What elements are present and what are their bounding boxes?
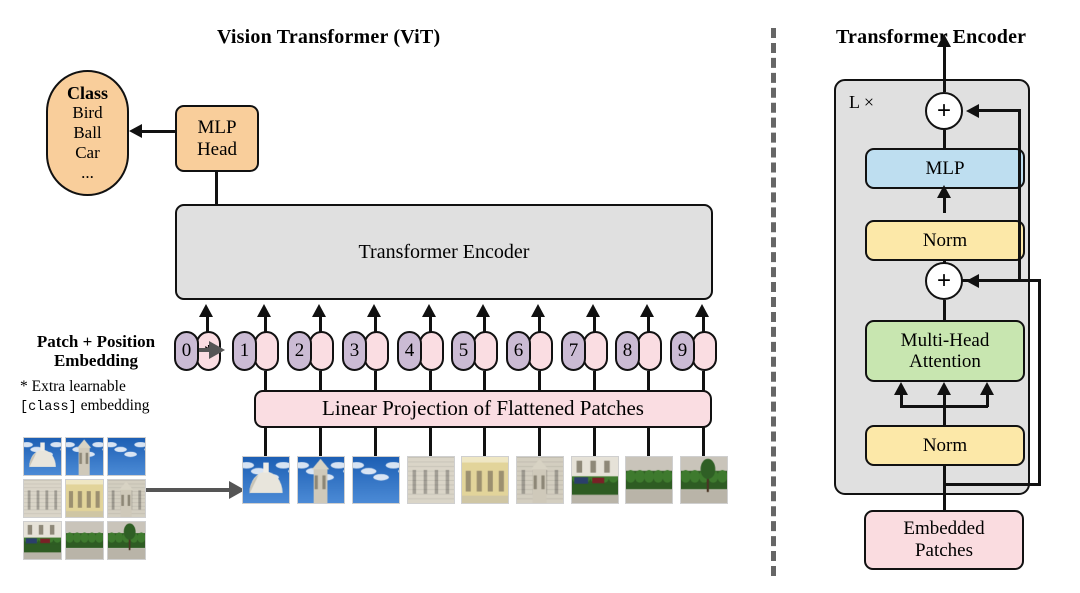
norm-top-label: Norm bbox=[923, 230, 967, 251]
patch-embedding-7 bbox=[583, 331, 608, 371]
token-7[interactable]: 7 bbox=[561, 331, 608, 371]
token-to-projection-line-5 bbox=[483, 371, 486, 392]
mlp-head-line1: MLP bbox=[197, 117, 236, 138]
skip-top-horizontal-top bbox=[978, 109, 1021, 112]
token-to-projection-line-7 bbox=[593, 371, 596, 392]
left-panel-title: Vision Transformer (ViT) bbox=[217, 26, 440, 49]
embedded-patches-box: Embedded Patches bbox=[864, 510, 1024, 570]
token-to-encoder-arrowhead-9 bbox=[695, 304, 709, 317]
mlp-to-class-arrowhead bbox=[129, 124, 142, 138]
projection-to-patch-line-4 bbox=[429, 426, 432, 456]
token-8[interactable]: 8 bbox=[615, 331, 662, 371]
skip-top-arrowhead bbox=[966, 104, 979, 118]
patch-embedding-2 bbox=[309, 331, 334, 371]
position-embedding-3: 3 bbox=[342, 331, 367, 371]
sequence-patch-5 bbox=[461, 456, 509, 504]
mlp-to-add-line bbox=[943, 130, 946, 149]
projection-to-patch-line-8 bbox=[647, 426, 650, 456]
norm-top-to-mlp-arrowhead bbox=[937, 185, 951, 198]
token-to-encoder-arrowhead-8 bbox=[640, 304, 654, 317]
position-embedding-0: 0 bbox=[174, 331, 199, 371]
token-to-projection-line-8 bbox=[647, 371, 650, 392]
class-ellipsis: ... bbox=[81, 163, 94, 183]
class-output-box: Class Bird Ball Car ... bbox=[46, 70, 129, 196]
encoder-output-arrowhead bbox=[937, 34, 951, 47]
token-to-projection-line-1 bbox=[264, 371, 267, 392]
source-patch-2-1 bbox=[65, 521, 104, 560]
projection-to-patch-line-3 bbox=[374, 426, 377, 456]
token-to-encoder-arrowhead-1 bbox=[257, 304, 271, 317]
skip-bottom-vertical bbox=[1038, 281, 1041, 486]
linear-projection-label: Linear Projection of Flattened Patches bbox=[322, 397, 644, 421]
grid-to-sequence-line bbox=[142, 488, 230, 492]
position-embedding-2: 2 bbox=[287, 331, 312, 371]
position-embedding-7: 7 bbox=[561, 331, 586, 371]
projection-to-patch-line-1 bbox=[264, 426, 267, 456]
plus-symbol-top: + bbox=[937, 97, 951, 125]
token-to-projection-line-6 bbox=[538, 371, 541, 392]
footnote-class-token: [class] bbox=[20, 400, 77, 415]
patch-embedding-9 bbox=[692, 331, 717, 371]
token-3[interactable]: 3 bbox=[342, 331, 389, 371]
projection-to-patch-line-7 bbox=[593, 426, 596, 456]
position-embedding-4: 4 bbox=[397, 331, 422, 371]
mlp-head-to-encoder-line bbox=[215, 172, 218, 206]
linear-projection-box: Linear Projection of Flattened Patches bbox=[254, 390, 712, 428]
token-to-projection-line-4 bbox=[429, 371, 432, 392]
token-2[interactable]: 2 bbox=[287, 331, 334, 371]
source-patch-2-2 bbox=[107, 521, 146, 560]
token-to-encoder-arrowhead-0 bbox=[199, 304, 213, 317]
token-9[interactable]: 9 bbox=[670, 331, 717, 371]
qkv-right-arrowhead bbox=[980, 382, 994, 395]
embedded-line2: Patches bbox=[915, 540, 973, 562]
footnote-line2: [class] embedding bbox=[20, 397, 190, 416]
source-patch-0-1 bbox=[65, 437, 104, 476]
position-embedding-1: 1 bbox=[232, 331, 257, 371]
token-to-encoder-arrowhead-4 bbox=[422, 304, 436, 317]
patch-embedding-3 bbox=[364, 331, 389, 371]
footnote-tail: embedding bbox=[77, 397, 150, 414]
attention-line1: Multi-Head bbox=[901, 330, 990, 351]
source-patch-0-0 bbox=[23, 437, 62, 476]
skip-bottom-arrowhead bbox=[966, 274, 979, 288]
projection-to-patch-line-6 bbox=[538, 426, 541, 456]
patch-position-line2: Embedding bbox=[12, 351, 180, 370]
norm-top-box: Norm bbox=[865, 220, 1025, 261]
class-item-0: Bird bbox=[72, 103, 102, 123]
token-6[interactable]: 6 bbox=[506, 331, 553, 371]
qkv-left-arrowhead bbox=[894, 382, 908, 395]
position-embedding-5: 5 bbox=[451, 331, 476, 371]
norm-bottom-label: Norm bbox=[923, 435, 967, 456]
token-to-encoder-arrowhead-5 bbox=[476, 304, 490, 317]
sequence-patch-1 bbox=[242, 456, 290, 504]
mlp-label: MLP bbox=[925, 158, 964, 179]
token-to-projection-line-2 bbox=[319, 371, 322, 392]
patch-embedding-1 bbox=[254, 331, 279, 371]
token-to-encoder-arrowhead-2 bbox=[312, 304, 326, 317]
sequence-patch-8 bbox=[625, 456, 673, 504]
token-to-encoder-arrowhead-6 bbox=[531, 304, 545, 317]
residual-add-top: + bbox=[925, 92, 963, 130]
mlp-to-class-line bbox=[140, 130, 176, 133]
token-to-encoder-arrowhead-7 bbox=[586, 304, 600, 317]
residual-add-bottom: + bbox=[925, 262, 963, 300]
right-panel-title: Transformer Encoder bbox=[836, 26, 1026, 49]
token-to-encoder-arrowhead-3 bbox=[367, 304, 381, 317]
skip-bottom-horizontal-top bbox=[978, 279, 1041, 282]
skip-top-vertical bbox=[1018, 111, 1021, 282]
sequence-patch-3 bbox=[352, 456, 400, 504]
footnote-line1: * Extra learnable bbox=[20, 378, 190, 397]
sequence-patch-7 bbox=[571, 456, 619, 504]
mlp-head-line2: Head bbox=[197, 139, 237, 160]
projection-to-patch-line-2 bbox=[319, 426, 322, 456]
mlp-box: MLP bbox=[865, 148, 1025, 189]
sequence-patch-6 bbox=[516, 456, 564, 504]
source-patch-1-0 bbox=[23, 479, 62, 518]
plus-symbol-bottom: + bbox=[937, 267, 951, 295]
sequence-patch-4 bbox=[407, 456, 455, 504]
patch-position-embedding-label: Patch + Position Embedding bbox=[12, 332, 180, 370]
projection-to-patch-line-9 bbox=[702, 426, 705, 456]
transformer-encoder-label: Transformer Encoder bbox=[359, 241, 530, 263]
skip-bottom-horizontal-bottom bbox=[943, 483, 1041, 486]
position-embedding-8: 8 bbox=[615, 331, 640, 371]
patch-embedding-5 bbox=[473, 331, 498, 371]
position-embedding-6: 6 bbox=[506, 331, 531, 371]
encoder-output-line bbox=[943, 45, 946, 92]
mlp-head-box: MLP Head bbox=[175, 105, 259, 172]
norm-bottom-box: Norm bbox=[865, 425, 1025, 466]
attention-to-add-line bbox=[943, 300, 946, 321]
token-to-encoder-line-0 bbox=[206, 315, 209, 333]
figure-canvas: Vision Transformer (ViT) Transformer Enc… bbox=[0, 0, 1080, 593]
multi-head-attention-box: Multi-Head Attention bbox=[865, 320, 1025, 382]
sequence-patch-2 bbox=[297, 456, 345, 504]
projection-to-patch-line-5 bbox=[483, 426, 486, 456]
patch-embedding-8 bbox=[637, 331, 662, 371]
patch-embedding-6 bbox=[528, 331, 553, 371]
token-5[interactable]: 5 bbox=[451, 331, 498, 371]
token-1[interactable]: 1 bbox=[232, 331, 279, 371]
token-to-projection-line-3 bbox=[374, 371, 377, 392]
embedded-to-norm-line bbox=[943, 466, 946, 512]
token-4[interactable]: 4 bbox=[397, 331, 444, 371]
token-to-projection-line-9 bbox=[702, 371, 705, 392]
panel-divider bbox=[771, 28, 776, 576]
sequence-patch-9 bbox=[680, 456, 728, 504]
source-patch-2-0 bbox=[23, 521, 62, 560]
class-item-2: Car bbox=[75, 143, 100, 163]
transformer-encoder-block: Transformer Encoder bbox=[175, 204, 713, 300]
class-item-1: Ball bbox=[73, 123, 101, 143]
qkv-mid-arrowhead bbox=[937, 382, 951, 395]
source-patch-0-2 bbox=[107, 437, 146, 476]
repeat-count-label: L × bbox=[849, 92, 874, 113]
patch-embedding-4 bbox=[419, 331, 444, 371]
position-embedding-9: 9 bbox=[670, 331, 695, 371]
source-patch-1-1 bbox=[65, 479, 104, 518]
source-patch-1-2 bbox=[107, 479, 146, 518]
label-to-token-arrowhead bbox=[209, 341, 225, 359]
class-heading: Class bbox=[67, 83, 108, 103]
embedded-line1: Embedded bbox=[903, 518, 984, 540]
attention-line2: Attention bbox=[909, 351, 981, 372]
norm-bottom-to-qkv-line bbox=[943, 405, 946, 427]
extra-learnable-footnote: * Extra learnable [class] embedding bbox=[20, 378, 190, 416]
patch-position-line1: Patch + Position bbox=[12, 332, 180, 351]
